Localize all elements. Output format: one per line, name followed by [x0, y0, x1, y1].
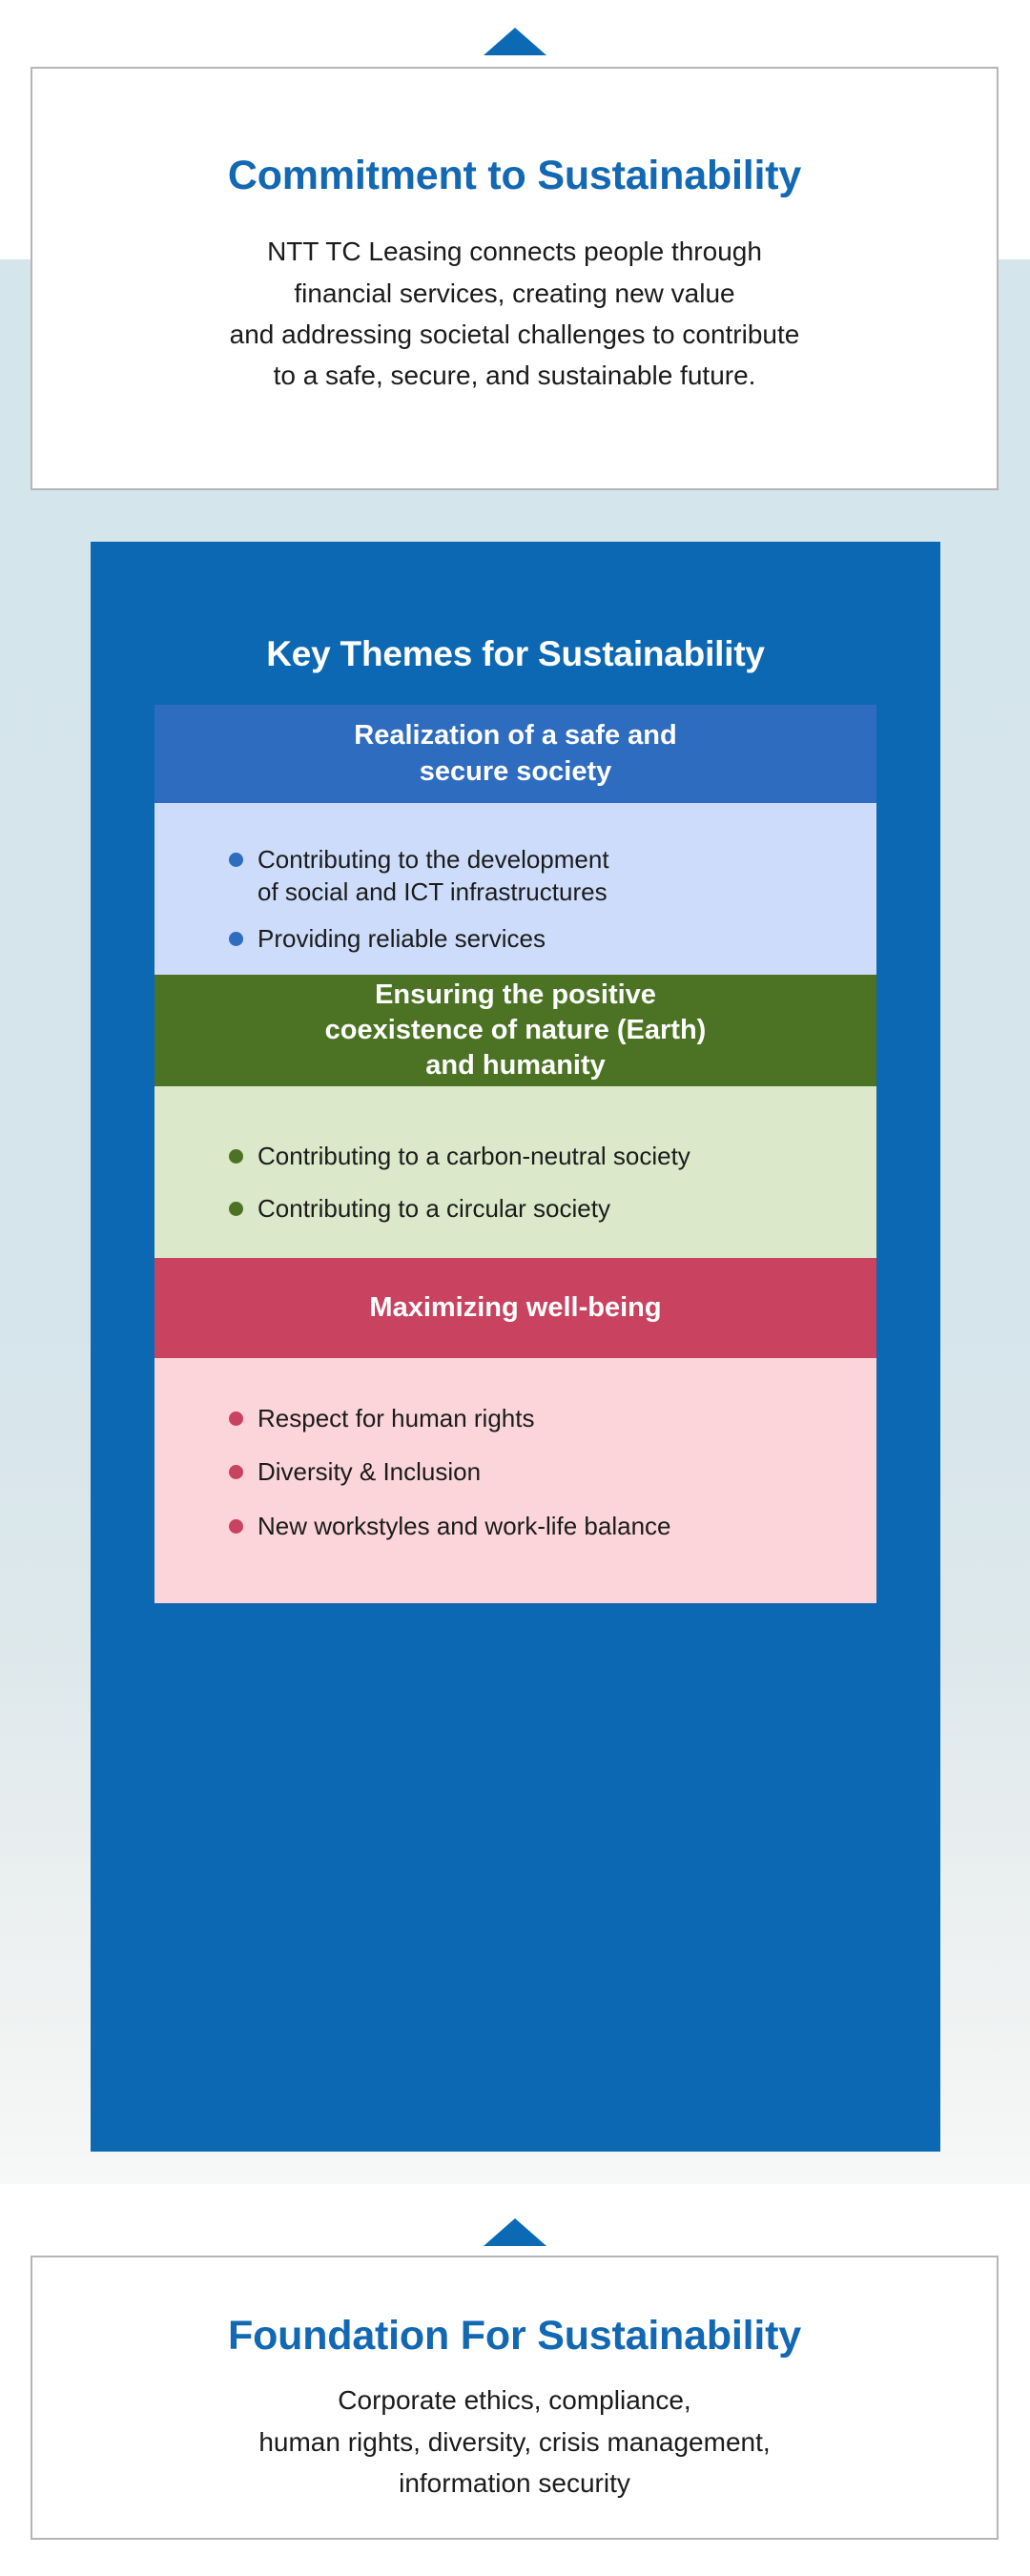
bullet-list-theme-0: Contributing to the development of socia… [229, 843, 876, 955]
commitment-body-text: NTT TC Leasing connects people through f… [32, 231, 997, 397]
bullet-list-theme-1: Contributing to a carbon-neutral society… [229, 1140, 876, 1226]
page-title-commitment: Commitment to Sustainability [32, 154, 997, 198]
key-themes-panel: Key Themes for Sustainability Realizatio… [91, 542, 940, 2152]
foundation-line-1: Corporate ethics, compliance, [338, 2385, 690, 2415]
commitment-line-1: NTT TC Leasing connects people through [267, 237, 762, 266]
bullet-list-theme-2: Respect for human rights Diversity & Inc… [229, 1402, 876, 1542]
theme-body-safe-secure-society: Contributing to the development of socia… [154, 803, 876, 995]
theme-0-header-line-1: Realization of a safe and [354, 720, 676, 751]
commitment-line-2: financial services, creating new value [294, 278, 734, 308]
foundation-line-3: information security [399, 2468, 630, 2498]
page-title-foundation: Foundation For Sustainability [32, 2314, 997, 2359]
theme-header-safe-secure-society: Realization of a safe and secure society [154, 705, 876, 803]
theme-body-nature-humanity: Contributing to a carbon-neutral society… [154, 1086, 876, 1286]
commitment-line-3: and addressing societal challenges to co… [230, 319, 800, 349]
list-item: Contributing to a circular society [229, 1192, 876, 1225]
list-item: Diversity & Inclusion [229, 1455, 876, 1488]
triangle-up-icon-top [484, 28, 546, 55]
theme-1-header-line-3: and humanity [425, 1050, 606, 1081]
list-item: Contributing to the development of socia… [229, 843, 876, 909]
theme-block-well-being: Maximizing well-being Respect for human … [154, 1258, 876, 1603]
theme-2-header-line-1: Maximizing well-being [369, 1292, 661, 1323]
theme-1-header-line-2: coexistence of nature (Earth) [325, 1015, 707, 1045]
theme-1-header-line-1: Ensuring the positive [375, 979, 656, 1010]
commitment-card: Commitment to Sustainability NTT TC Leas… [31, 67, 999, 490]
theme-header-well-being: Maximizing well-being [154, 1258, 876, 1358]
theme-block-safe-secure-society: Realization of a safe and secure society… [154, 705, 876, 995]
list-item: Contributing to a carbon-neutral society [229, 1140, 876, 1172]
list-item: Respect for human rights [229, 1402, 876, 1434]
theme-0-bullet-1-line-2: of social and ICT infrastructures [257, 877, 608, 906]
theme-header-nature-humanity: Ensuring the positive coexistence of nat… [154, 975, 876, 1086]
commitment-line-4: to a safe, secure, and sustainable futur… [274, 361, 756, 390]
theme-block-nature-humanity: Ensuring the positive coexistence of nat… [154, 975, 876, 1286]
theme-body-well-being: Respect for human rights Diversity & Inc… [154, 1358, 876, 1603]
list-item: New workstyles and work-life balance [229, 1510, 876, 1542]
foundation-line-2: human rights, diversity, crisis manageme… [258, 2427, 770, 2457]
foundation-body-text: Corporate ethics, compliance, human righ… [32, 2380, 997, 2504]
theme-0-header-line-2: secure society [420, 756, 612, 787]
foundation-card: Foundation For Sustainability Corporate … [31, 2256, 999, 2540]
triangle-up-icon-bottom [484, 2218, 546, 2246]
key-themes-heading: Key Themes for Sustainability [91, 542, 940, 674]
list-item: Providing reliable services [229, 922, 876, 955]
theme-0-bullet-1-line-1: Contributing to the development [257, 845, 609, 874]
